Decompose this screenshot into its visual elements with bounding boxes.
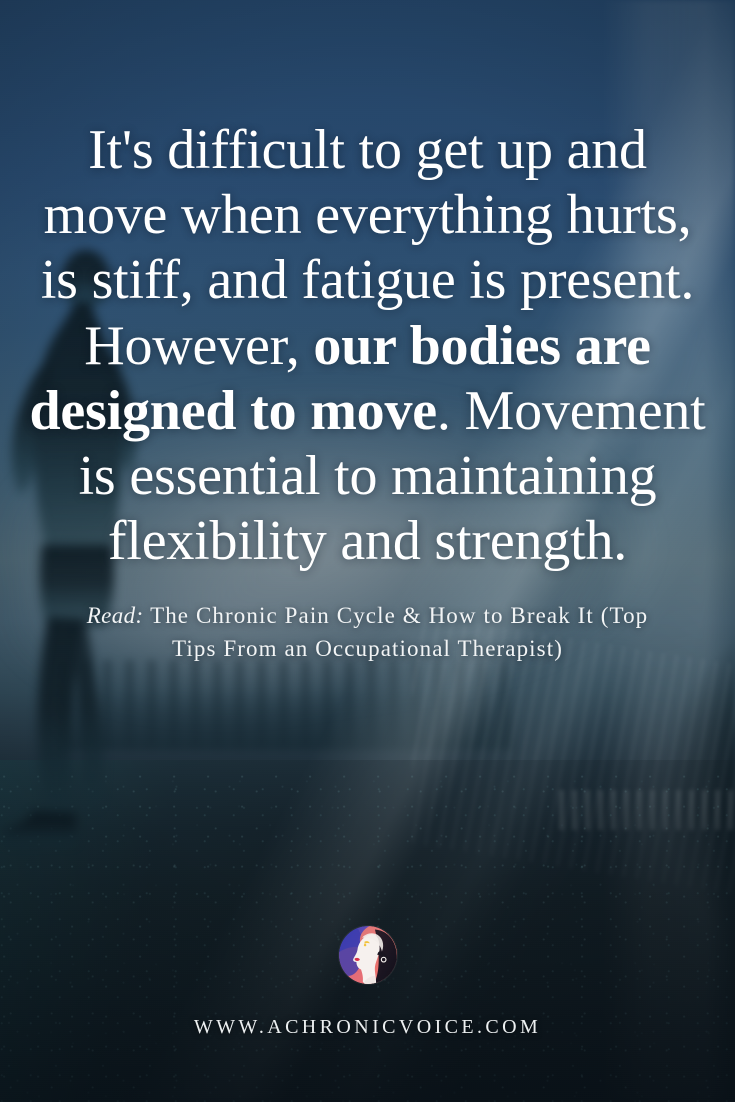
poster-content: It's difficult to get up and move when e… bbox=[0, 0, 735, 1102]
read-article-title: The Chronic Pain Cycle & How to Break It… bbox=[150, 603, 648, 662]
site-url[interactable]: WWW.ACHRONICVOICE.COM bbox=[0, 1016, 735, 1039]
pinterest-quote-poster: It's difficult to get up and move when e… bbox=[0, 0, 735, 1102]
read-label: Read: bbox=[87, 603, 144, 628]
read-article-link[interactable]: Read: The Chronic Pain Cycle & How to Br… bbox=[0, 599, 735, 667]
quote-text: It's difficult to get up and move when e… bbox=[0, 118, 735, 575]
a-chronic-voice-logo-icon bbox=[339, 926, 397, 984]
brand-logo-container[interactable] bbox=[339, 926, 397, 984]
